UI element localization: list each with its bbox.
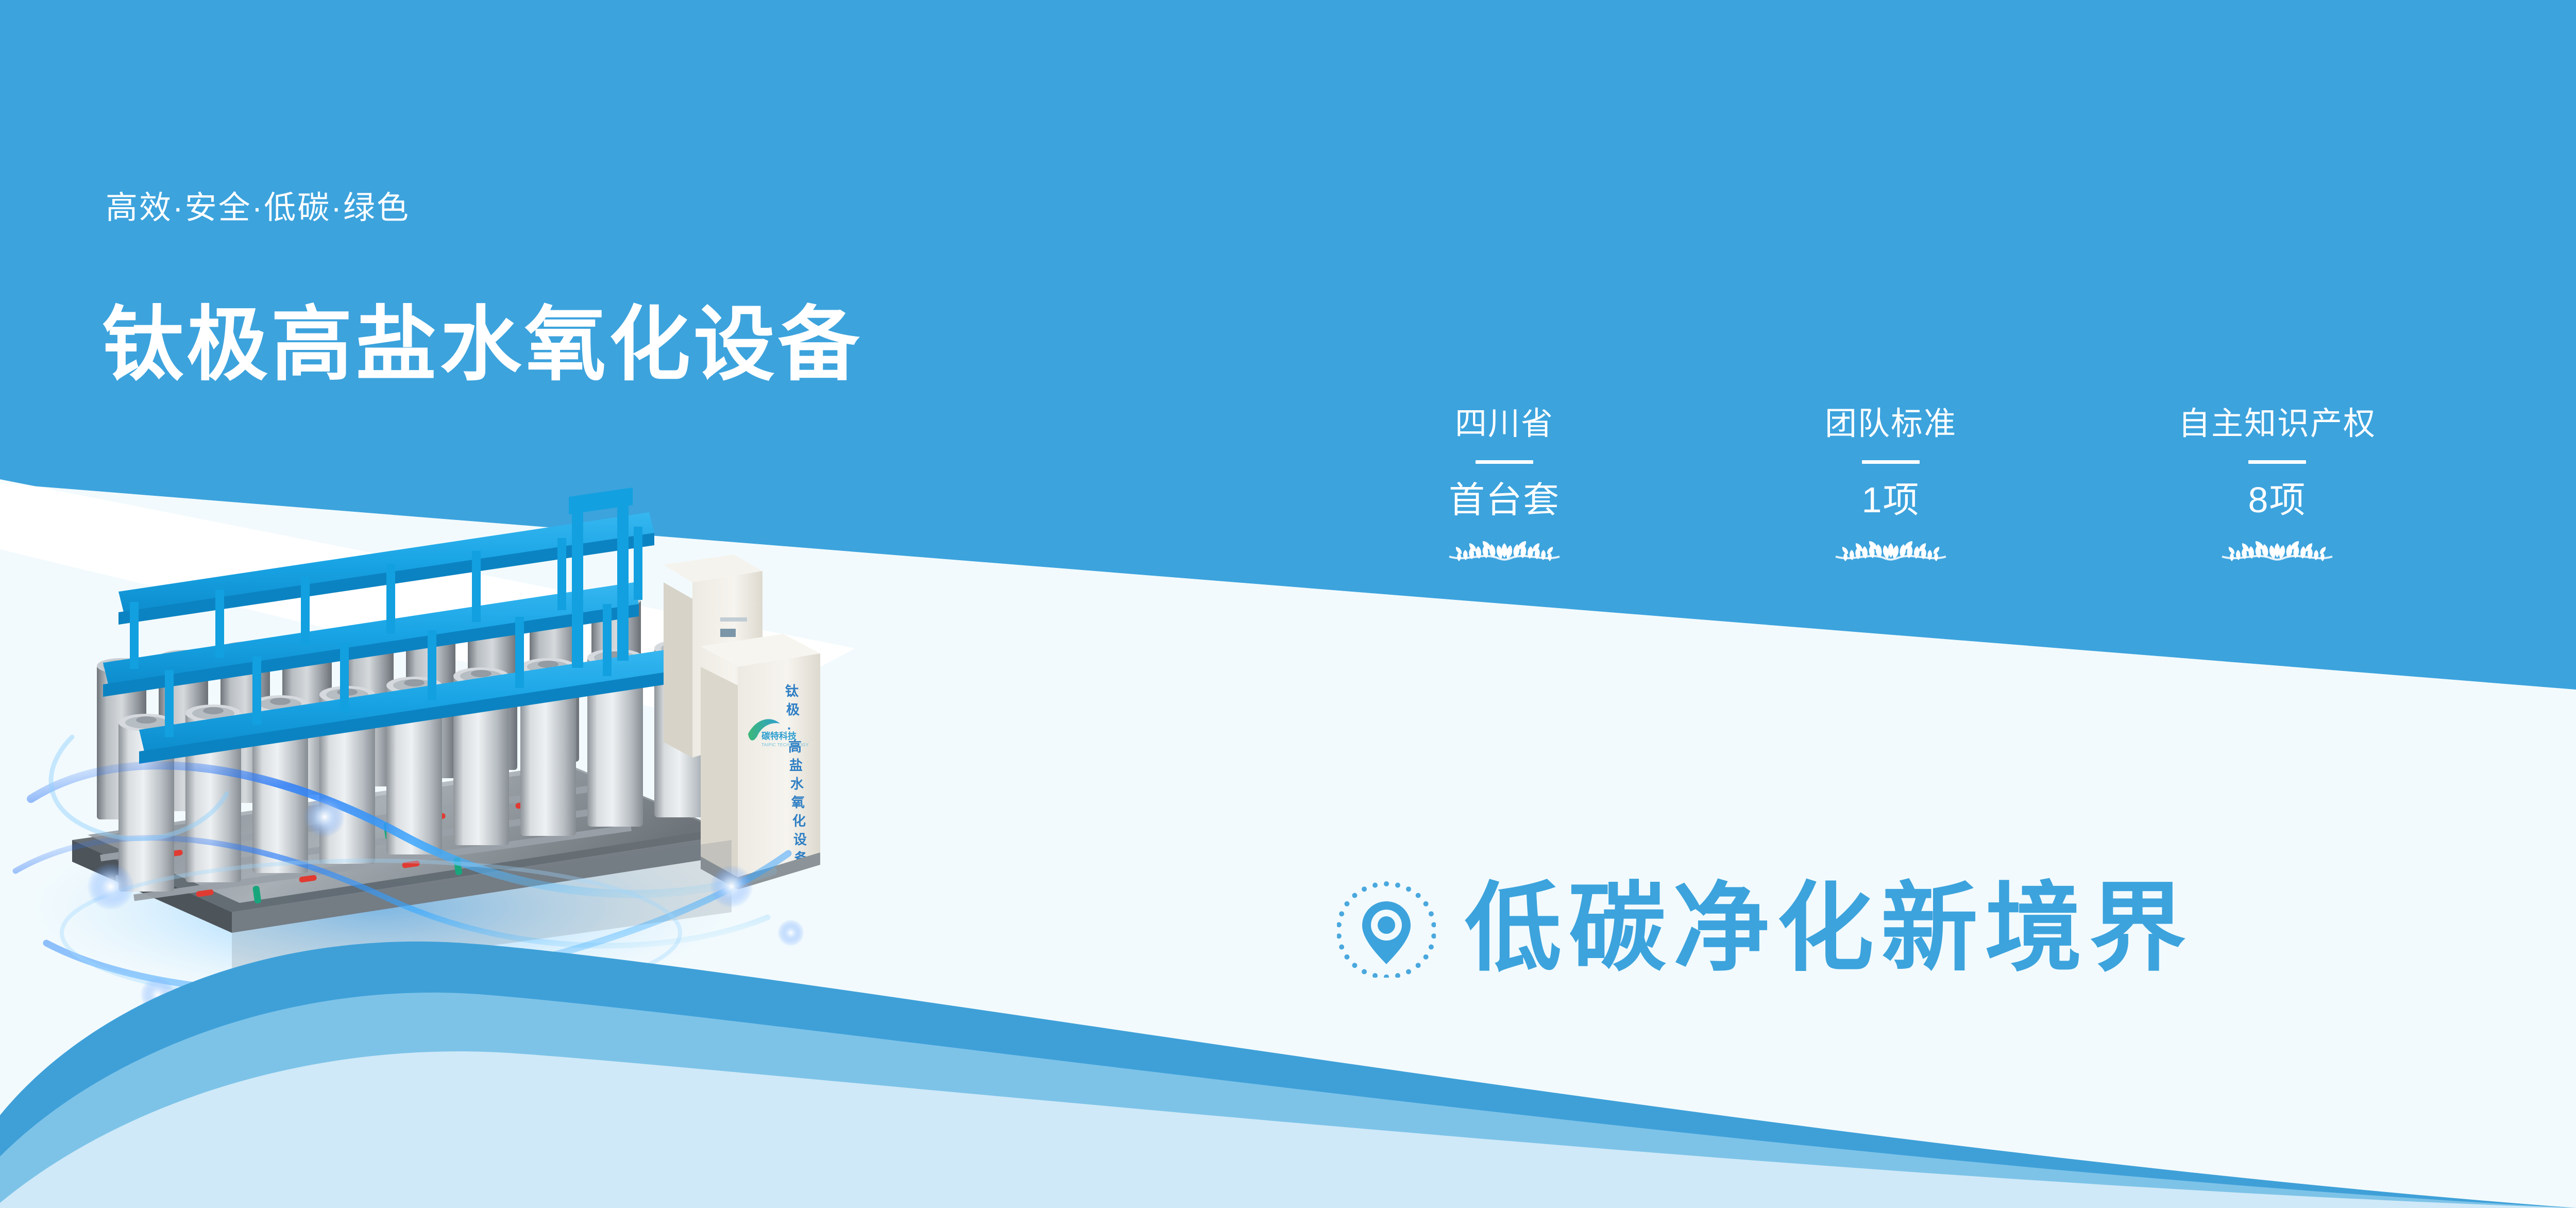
stat-value: 首台套: [1350, 481, 1659, 519]
laurel-ornament: [1350, 532, 1659, 570]
stat-label: 四川省: [1350, 407, 1659, 441]
marketing-banner: 碳特科技 TAIPIC TECHNOLOGY 钛 极 · 高 盐 水 氧 化 设…: [0, 0, 2576, 1208]
stat-block-team-standard: 团队标准 1项: [1736, 407, 2045, 570]
stat-block-ip: 自主知识产权 8项: [2123, 407, 2432, 570]
tagline-row: 低碳净化新境界: [1337, 879, 2193, 978]
stat-label: 团队标准: [1736, 407, 2045, 441]
kicker-text: 高效·安全·低碳·绿色: [106, 181, 410, 228]
page-title: 钛极高盐水氧化设备: [102, 278, 862, 396]
tagline-text: 低碳净化新境界: [1465, 880, 2193, 977]
stat-divider: [1476, 460, 1533, 464]
stat-divider: [2248, 460, 2306, 464]
laurel-ornament: [1736, 532, 2045, 570]
stat-divider: [1862, 460, 1920, 464]
stat-value: 8项: [2123, 481, 2432, 519]
location-pin-icon: [1337, 879, 1436, 978]
laurel-ornament: [2123, 532, 2432, 570]
stats-row: 四川省 首台套: [1350, 407, 2432, 634]
stat-value: 1项: [1736, 481, 2045, 519]
stat-block-sichuan: 四川省 首台套: [1350, 407, 1659, 570]
stat-label: 自主知识产权: [2123, 407, 2432, 441]
